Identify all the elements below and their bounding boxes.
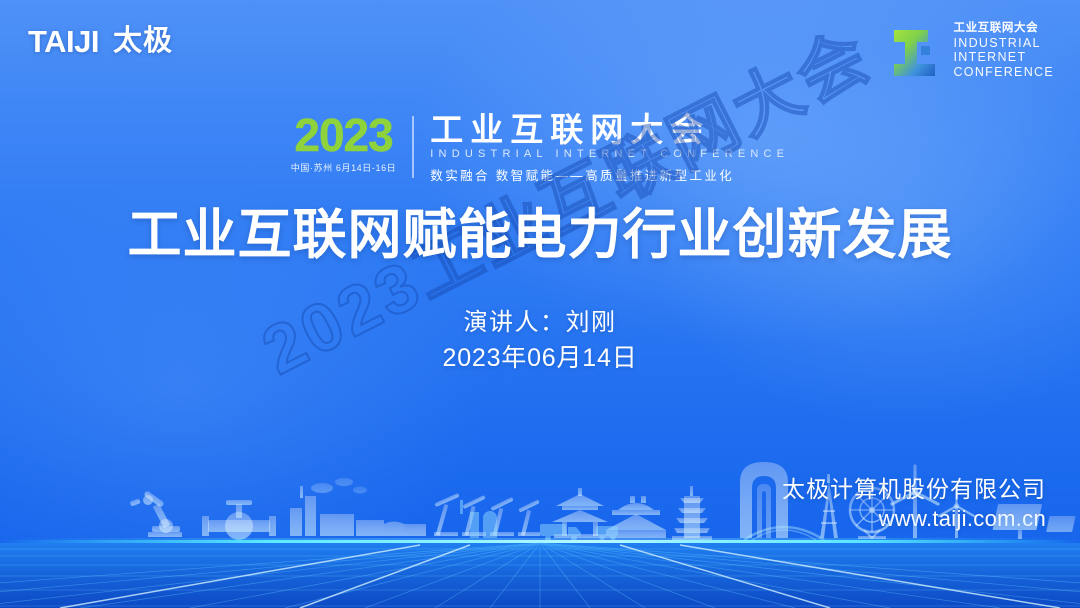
lattice-tower-icon [820,474,838,538]
conference-banner: 2023 中国·苏州 6月14日-16日 工业互联网大会 INDUSTRIAL … [0,112,1080,184]
pagoda-tower-icon [672,486,712,540]
banner-title-block: 工业互联网大会 INDUSTRIAL INTERNET CONFERENCE 数… [430,112,789,184]
presentation-date: 2023年06月14日 [0,338,1080,374]
taiji-logo-en: TAIJI [28,26,99,57]
banner-title-cn: 工业互联网大会 [430,113,789,147]
conference-logo-line-1: INDUSTRIAL [953,36,1054,51]
presentation-slide: TAIJI 太极 工业互联网大会 INDUSTRIAL INTERNET CON… [0,0,1080,608]
wind-turbine-icon [892,466,974,538]
conference-logo: 工业互联网大会 INDUSTRIAL INTERNET CONFERENCE [891,22,1054,80]
robot-arm-icon [130,490,182,537]
taiji-logo-cn: 太极 [113,27,173,56]
banner-year-block: 2023 中国·苏州 6月14日-16日 [291,112,397,174]
page-title: 工业互联网赋能电力行业创新发展 [0,204,1080,268]
conference-logo-line-2: INTERNET [953,50,1054,65]
banner-title-en: INDUSTRIAL INTERNET CONFERENCE [430,148,789,160]
banner-year: 2023 [291,114,397,156]
banner-divider [412,116,414,178]
industrial-valve-icon [202,500,276,540]
banner-slogan: 数实融合 数智赋能——高质量推进新型工业化 [430,165,789,184]
conference-logo-line-3: CONFERENCE [953,65,1054,80]
factory-icon [290,478,426,536]
banner-place-date: 中国·苏州 6月14日-16日 [291,161,397,174]
ferris-wheel-icon [850,488,894,539]
solar-panel-icon [993,504,1076,539]
skyline-scene [0,448,1080,608]
skyline-svg [0,448,1080,608]
conference-logo-title-cn: 工业互联网大会 [953,22,1054,36]
taiji-logo: TAIJI 太极 [28,26,173,57]
conference-logo-text: 工业互联网大会 INDUSTRIAL INTERNET CONFERENCE [953,22,1054,80]
conference-mark-icon [891,24,943,78]
presenter-name: 演讲人：刘刚 [0,302,1080,337]
